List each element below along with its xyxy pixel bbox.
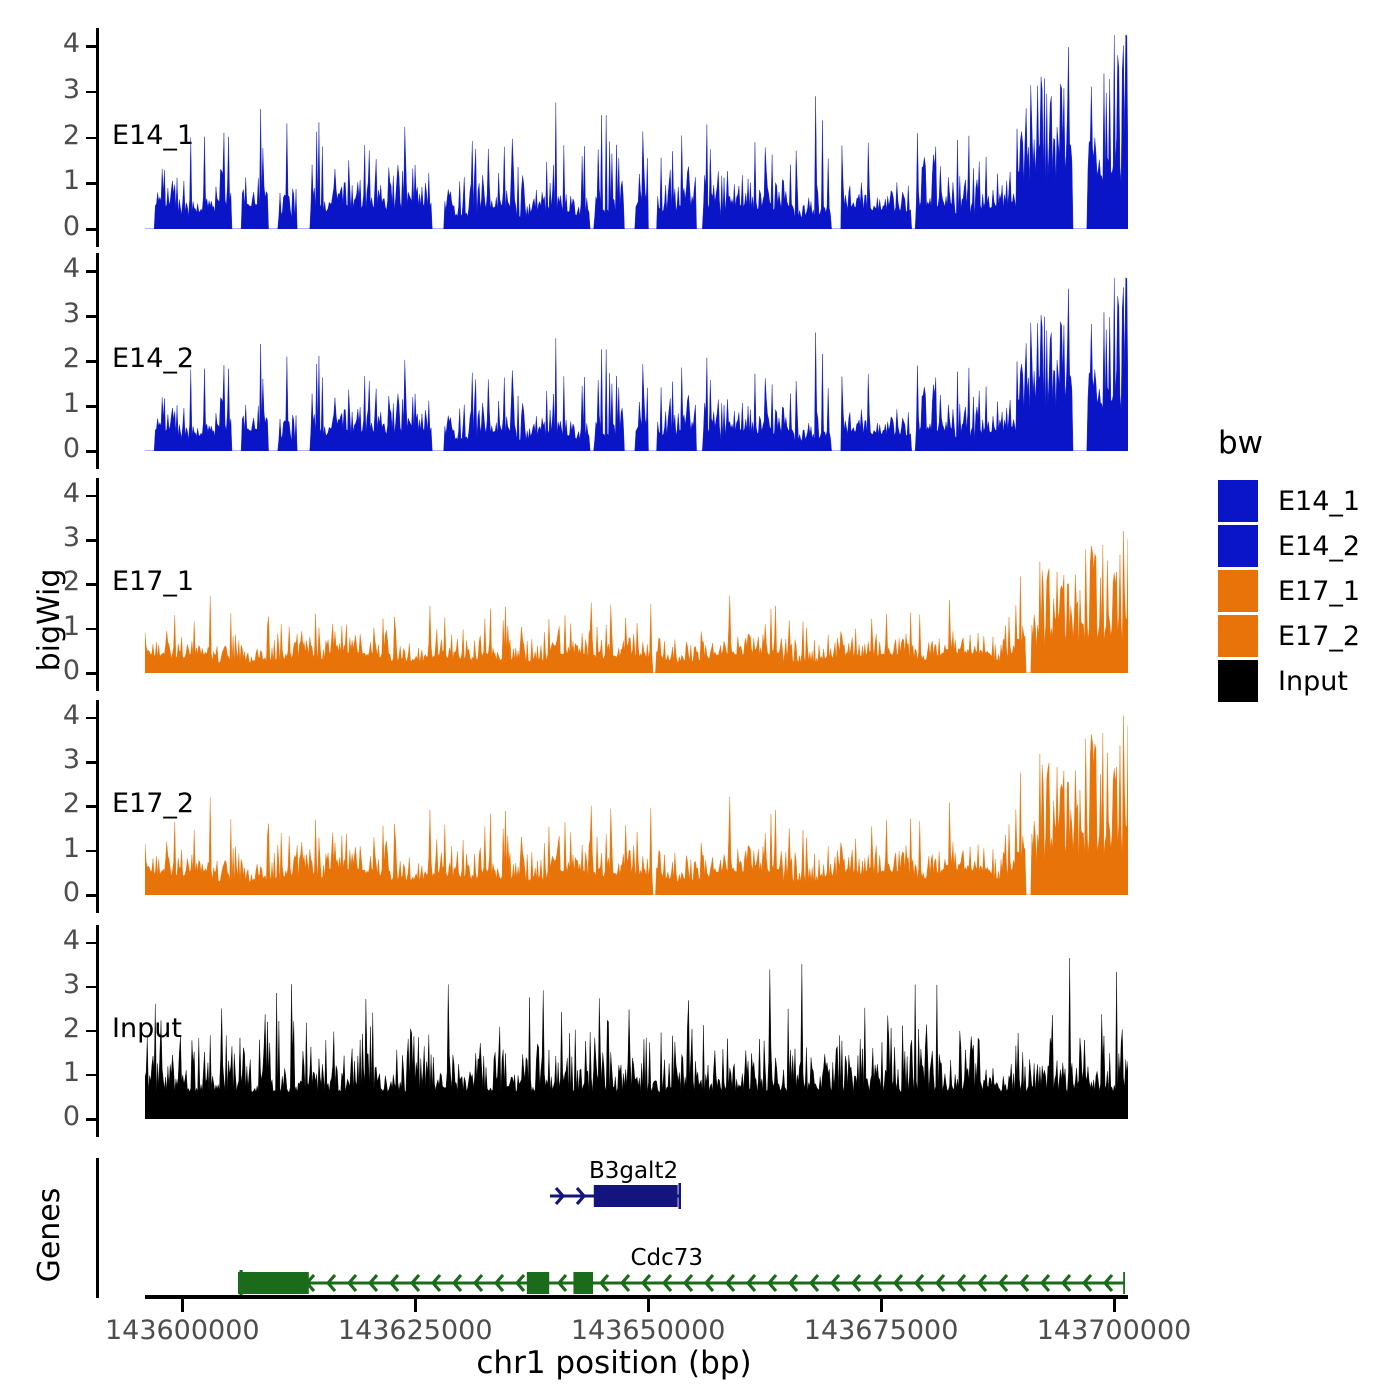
x-tick-label: 143675000	[804, 1315, 959, 1346]
genes-axis-title: Genes	[30, 1155, 70, 1315]
y-tick	[86, 942, 97, 945]
y-tick	[86, 405, 97, 408]
y-tick-label: 0	[48, 433, 80, 464]
signal-track-e14_2[interactable]	[145, 253, 1128, 451]
legend-item-e17_2[interactable]: E17_2	[1200, 614, 1400, 658]
legend-swatch-e14_1	[1218, 480, 1258, 522]
y-tick-label: 3	[48, 522, 80, 553]
legend-items[interactable]: E14_1E14_2E17_1E17_2Input	[1200, 479, 1400, 703]
y-tick-label: 1	[48, 165, 80, 196]
x-tick	[647, 1299, 650, 1312]
genes-panel-spine	[96, 1158, 99, 1298]
x-tick	[880, 1299, 883, 1312]
x-tick-label: 143625000	[338, 1315, 493, 1346]
y-tick-label: 3	[48, 969, 80, 1000]
y-tick-label: 0	[48, 877, 80, 908]
legend-label-e17_1: E17_1	[1278, 576, 1360, 607]
y-tick	[86, 228, 97, 231]
y-tick	[86, 583, 97, 586]
y-tick-label: 4	[48, 28, 80, 59]
gene-label-b3galt2: B3galt2	[589, 1158, 678, 1184]
y-tick-label: 3	[48, 298, 80, 329]
x-axis-title: chr1 position (bp)	[0, 1345, 1228, 1381]
y-tick-label: 1	[48, 1057, 80, 1088]
y-tick-label: 2	[48, 343, 80, 374]
y-tick	[86, 672, 97, 675]
y-tick	[86, 495, 97, 498]
y-tick-label: 2	[48, 566, 80, 597]
signal-track-input[interactable]	[145, 925, 1128, 1119]
y-tick-label: 3	[48, 74, 80, 105]
y-tick-label: 4	[48, 925, 80, 956]
y-tick-label: 4	[48, 700, 80, 731]
y-tick	[86, 315, 97, 318]
y-tick	[86, 360, 97, 363]
y-tick	[86, 450, 97, 453]
y-tick-label: 3	[48, 744, 80, 775]
y-tick	[86, 761, 97, 764]
legend: bw E14_1E14_2E17_1E17_2Input	[1200, 425, 1400, 704]
legend-swatch-input	[1218, 660, 1258, 702]
x-tick-label: 143650000	[571, 1315, 726, 1346]
y-tick-label: 2	[48, 1013, 80, 1044]
legend-label-e14_2: E14_2	[1278, 531, 1360, 562]
y-tick-label: 1	[48, 833, 80, 864]
y-tick-label: 2	[48, 120, 80, 151]
y-tick	[86, 182, 97, 185]
legend-label-e17_2: E17_2	[1278, 621, 1360, 652]
y-tick-label: 4	[48, 253, 80, 284]
x-tick-label: 143600000	[105, 1315, 260, 1346]
y-tick	[86, 1030, 97, 1033]
legend-item-e17_1[interactable]: E17_1	[1200, 569, 1400, 613]
legend-item-e14_1[interactable]: E14_1	[1200, 479, 1400, 523]
x-tick	[414, 1299, 417, 1312]
y-tick	[86, 45, 97, 48]
y-tick	[86, 539, 97, 542]
y-tick-label: 0	[48, 655, 80, 686]
y-tick-label: 4	[48, 478, 80, 509]
legend-swatch-e17_2	[1218, 615, 1258, 657]
y-tick	[86, 850, 97, 853]
y-tick	[86, 805, 97, 808]
gene-label-cdc73: Cdc73	[630, 1245, 703, 1271]
x-tick	[1113, 1299, 1116, 1312]
y-tick	[86, 137, 97, 140]
y-tick	[86, 91, 97, 94]
y-tick	[86, 270, 97, 273]
y-tick-label: 2	[48, 788, 80, 819]
x-tick-label: 143700000	[1037, 1315, 1192, 1346]
legend-item-input[interactable]: Input	[1200, 659, 1400, 703]
legend-label-e14_1: E14_1	[1278, 486, 1360, 517]
legend-swatch-e14_2	[1218, 525, 1258, 567]
y-tick	[86, 1074, 97, 1077]
signal-track-e17_2[interactable]	[145, 700, 1128, 895]
y-tick-label: 1	[48, 611, 80, 642]
y-tick	[86, 986, 97, 989]
signal-track-e14_1[interactable]	[145, 28, 1128, 229]
legend-item-e14_2[interactable]: E14_2	[1200, 524, 1400, 568]
y-tick-label: 0	[48, 211, 80, 242]
y-tick	[86, 1118, 97, 1121]
signal-track-e17_1[interactable]	[145, 478, 1128, 673]
legend-title: bw	[1218, 425, 1400, 461]
y-tick	[86, 628, 97, 631]
legend-swatch-e17_1	[1218, 570, 1258, 612]
y-tick	[86, 894, 97, 897]
y-tick-label: 1	[48, 388, 80, 419]
x-tick	[181, 1299, 184, 1312]
legend-label-input: Input	[1278, 666, 1348, 697]
y-tick	[86, 717, 97, 720]
y-tick-label: 0	[48, 1101, 80, 1132]
